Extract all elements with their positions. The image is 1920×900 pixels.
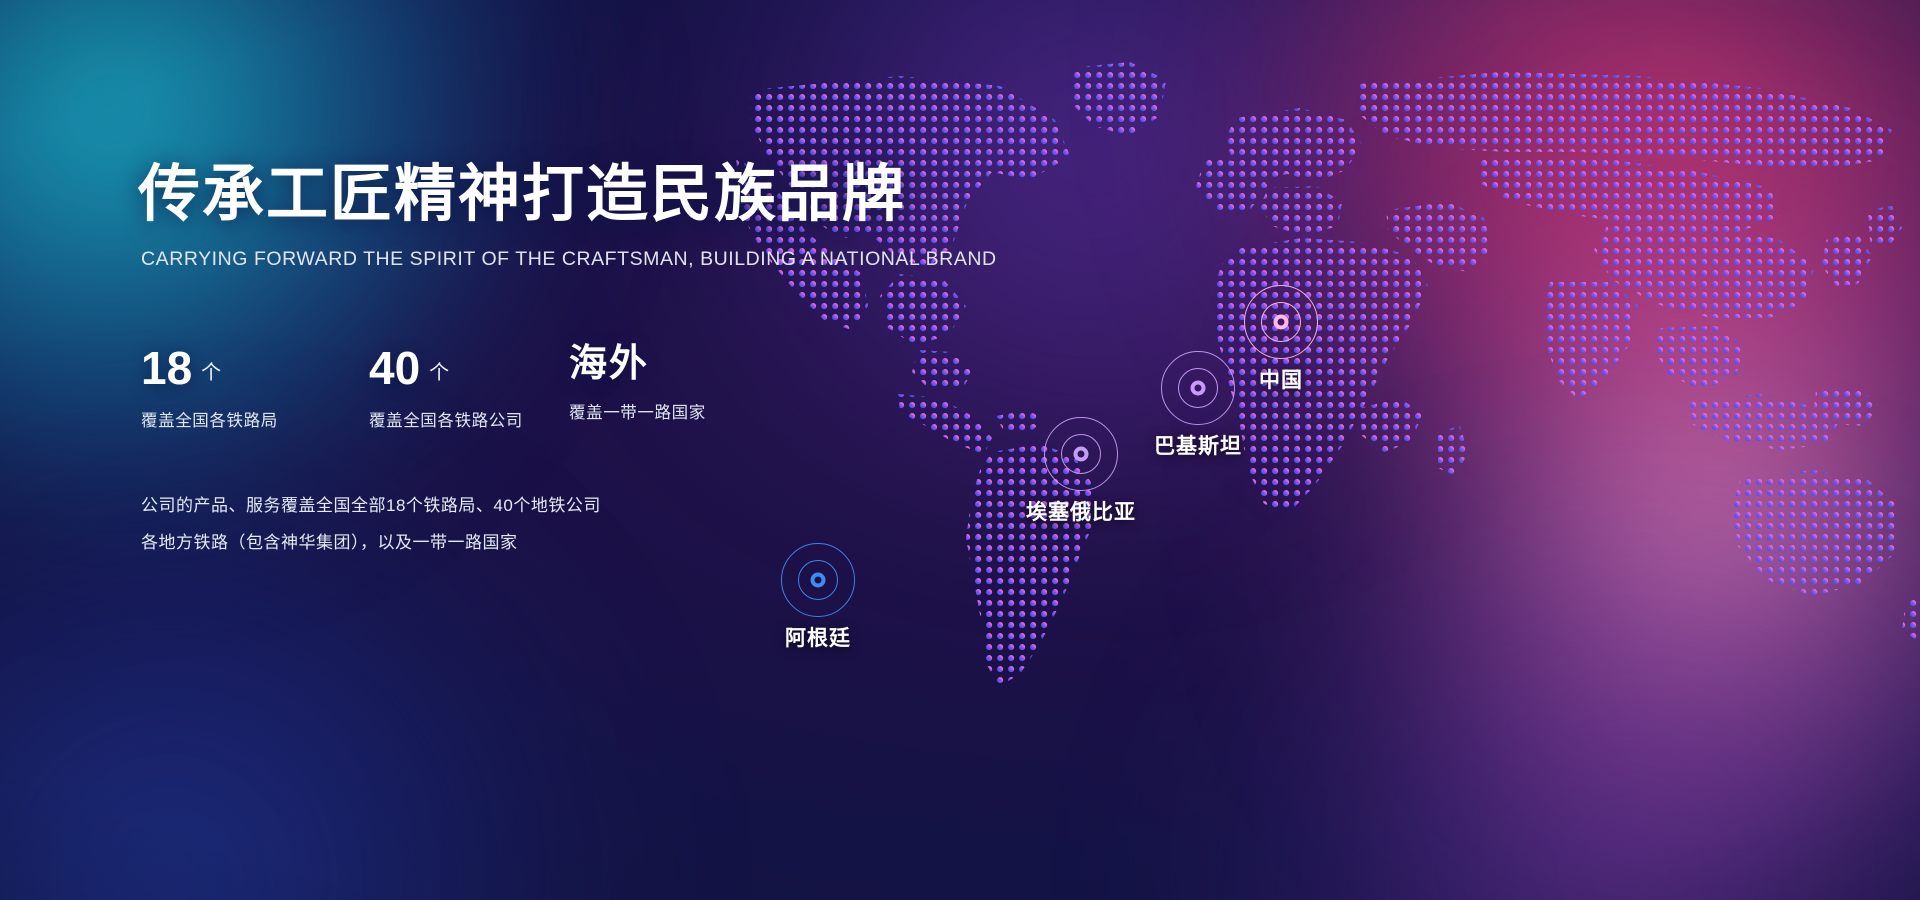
stat-item-railway-companies: 40 个 覆盖全国各铁路公司 [369,345,569,431]
stat-unit: 个 [429,356,449,385]
stat-item-overseas: 海外 覆盖一带一路国家 [569,345,789,431]
page-title: 传承工匠精神打造民族品牌 [138,160,898,229]
map-marker-label-pakistan: 巴基斯坦 [1154,430,1242,460]
stat-unit: 个 [201,356,221,385]
stat-item-railway-bureaus: 18 个 覆盖全国各铁路局 [141,345,369,431]
stat-description: 覆盖全国各铁路局 [141,407,369,431]
map-marker-label-ethiopia: 埃塞俄比亚 [1026,496,1136,526]
marker-center-dot [1274,315,1289,330]
marker-center-dot [1191,381,1206,396]
map-marker-label-china: 中国 [1259,364,1303,394]
marker-center-dot [1074,447,1089,462]
stat-number: 40 [369,345,420,391]
stats-row: 18 个 覆盖全国各铁路局 40 个 覆盖全国各铁路公司 海外 覆盖一带一路国家 [141,345,898,431]
stat-number: 18 [141,345,192,391]
page-subtitle: CARRYING FORWARD THE SPIRIT OF THE CRAFT… [141,248,898,271]
stat-number: 海外 [569,345,649,383]
description-line-1: 公司的产品、服务覆盖全国全部18个铁路局、40个地铁公司 [141,493,898,519]
stat-description: 覆盖一带一路国家 [569,399,789,423]
hero-banner: 中国 巴基斯坦 埃塞俄比亚 阿根廷 传承工匠精神打造民族品牌 CARRYING … [0,0,1920,900]
map-marker-label-argentina: 阿根廷 [785,622,851,652]
stat-description: 覆盖全国各铁路公司 [369,407,569,431]
banner-content: 传承工匠精神打造民族品牌 CARRYING FORWARD THE SPIRIT… [138,160,898,566]
description-paragraph: 公司的产品、服务覆盖全国全部18个铁路局、40个地铁公司 各地方铁路（包含神华集… [141,493,898,556]
marker-center-dot [811,573,826,588]
description-line-2: 各地方铁路（包含神华集团），以及一带一路国家 [141,530,898,556]
